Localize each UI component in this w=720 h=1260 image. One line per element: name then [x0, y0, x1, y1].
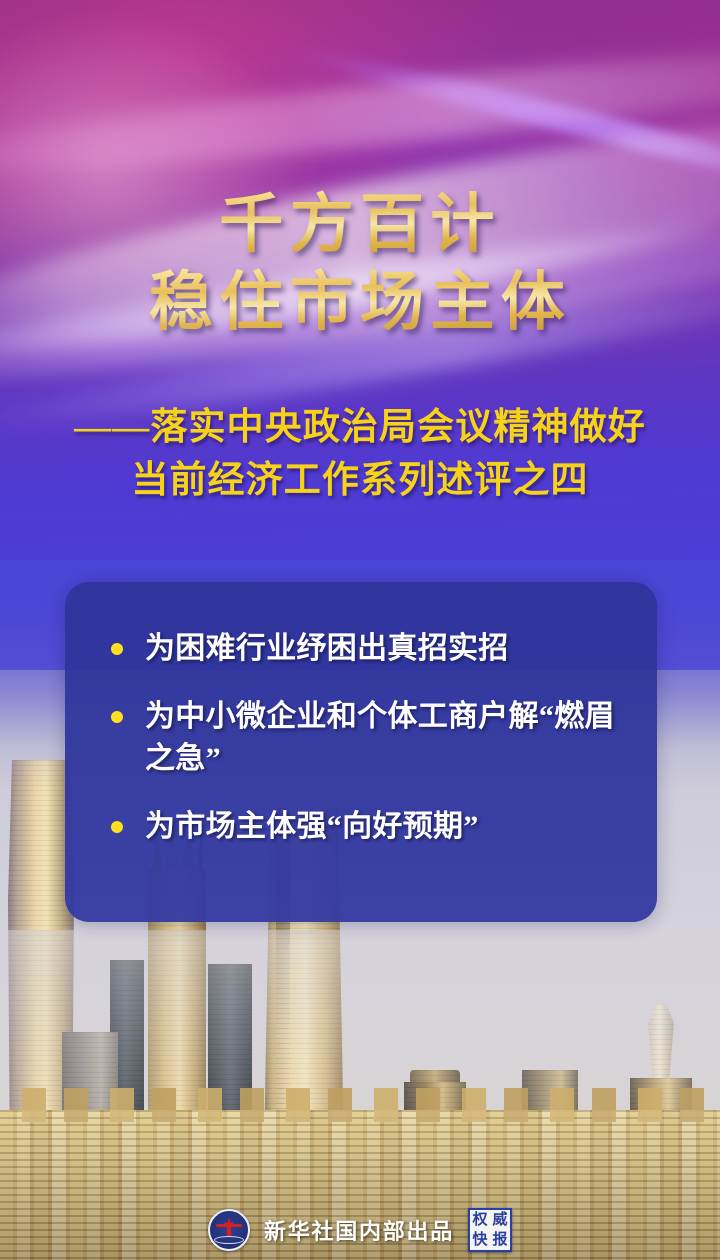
badge-char-1: 权 — [473, 1213, 488, 1228]
badge-char-3: 快 — [473, 1233, 488, 1248]
subtitle-line-1: ——落实中央政治局会议精神做好 — [0, 402, 720, 455]
title-block: 千方百计 稳住市场主体 — [0, 186, 720, 342]
highlights-card: 为困难行业纾困出真招实招 为中小微企业和个体工商户解“燃眉之急” 为市场主体强“… — [65, 582, 657, 922]
bullet-text-3: 为市场主体强“向好预期” — [145, 806, 479, 848]
emblem-ring — [214, 1236, 244, 1244]
bullet-text-1: 为困难行业纾困出真招实招 — [145, 628, 509, 670]
subtitle-line-2: 当前经济工作系列述评之四 — [0, 455, 720, 508]
xinhua-emblem-icon — [208, 1209, 250, 1251]
building-right-spire-top — [648, 1004, 674, 1078]
list-item: 为中小微企业和个体工商户解“燃眉之急” — [111, 696, 623, 780]
subtitle-block: ——落实中央政治局会议精神做好 当前经济工作系列述评之四 — [0, 402, 720, 507]
bullet-dot-icon — [111, 821, 123, 833]
authority-express-badge: 权 威 快 报 — [468, 1208, 512, 1252]
list-item: 为市场主体强“向好预期” — [111, 806, 623, 848]
emblem-tower — [224, 1219, 233, 1237]
list-item: 为困难行业纾困出真招实招 — [111, 628, 623, 670]
building-right-a-cap — [410, 1070, 460, 1082]
bullet-dot-icon — [111, 643, 123, 655]
badge-char-2: 威 — [493, 1213, 508, 1228]
footer-bar: 新华社国内部出品 权 威 快 报 — [0, 1208, 720, 1252]
bullet-text-2: 为中小微企业和个体工商户解“燃眉之急” — [145, 696, 623, 780]
footer-credit: 新华社国内部出品 — [264, 1214, 454, 1246]
bullet-dot-icon — [111, 711, 123, 723]
poster-canvas: 千方百计 稳住市场主体 ——落实中央政治局会议精神做好 当前经济工作系列述评之四… — [0, 0, 720, 1260]
title-line-1: 千方百计 — [0, 186, 720, 264]
badge-char-4: 报 — [493, 1233, 508, 1248]
title-line-2: 稳住市场主体 — [0, 264, 720, 342]
